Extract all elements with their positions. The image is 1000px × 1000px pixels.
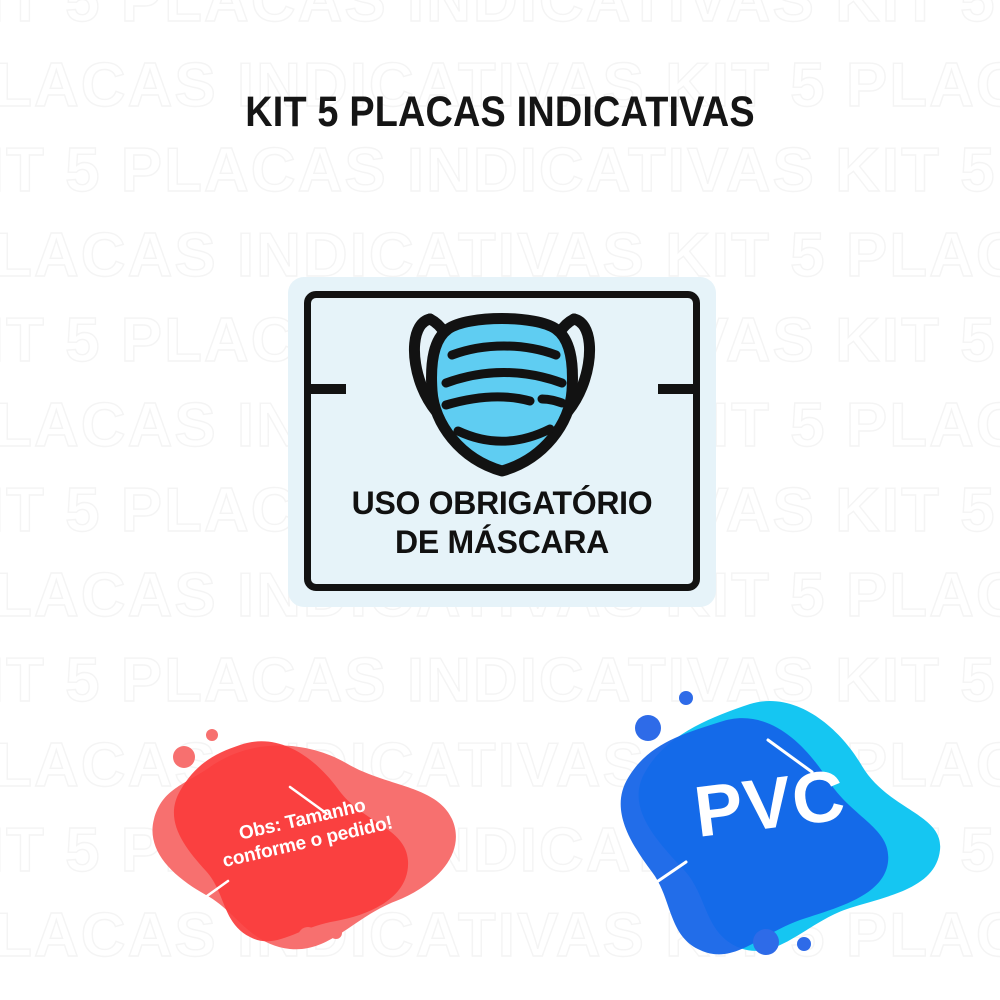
sign-text: USO OBRIGATÓRIO DE MÁSCARA xyxy=(288,484,716,562)
note-badge-dot-3 xyxy=(298,927,318,947)
note-badge-dot-4 xyxy=(330,927,342,939)
note-badge: Obs: Tamanho conforme o pedido! xyxy=(140,715,470,965)
page-title: KIT 5 PLACAS INDICATIVAS xyxy=(60,88,940,137)
sign-right-dash xyxy=(658,384,700,394)
material-badge: PVC xyxy=(600,680,960,970)
material-badge-dot-4 xyxy=(797,937,811,951)
note-badge-shapes xyxy=(140,715,470,965)
sign-plate: USO OBRIGATÓRIO DE MÁSCARA xyxy=(288,277,716,607)
material-badge-dot-2 xyxy=(679,691,693,705)
material-badge-shapes xyxy=(600,680,960,970)
product-image-canvas: KIT 5 PLACAS INDICATIVAS KIT 5 PLACAS IN… xyxy=(0,0,1000,1000)
material-badge-dot-1 xyxy=(635,715,661,741)
sign-text-line1: USO OBRIGATÓRIO xyxy=(352,485,653,521)
sign-left-dash xyxy=(304,384,346,394)
note-badge-dot-1 xyxy=(173,746,195,768)
material-badge-dot-3 xyxy=(753,929,779,955)
watermark-row: KIT 5 PLACAS INDICATIVAS KIT 5 PLACAS IN… xyxy=(0,0,1000,32)
sign-text-line2: DE MÁSCARA xyxy=(288,523,716,562)
note-badge-dot-2 xyxy=(206,729,218,741)
watermark-row: KIT 5 PLACAS INDICATIVAS KIT 5 PLACAS IN… xyxy=(0,140,1000,202)
surgical-mask-icon xyxy=(384,299,620,481)
